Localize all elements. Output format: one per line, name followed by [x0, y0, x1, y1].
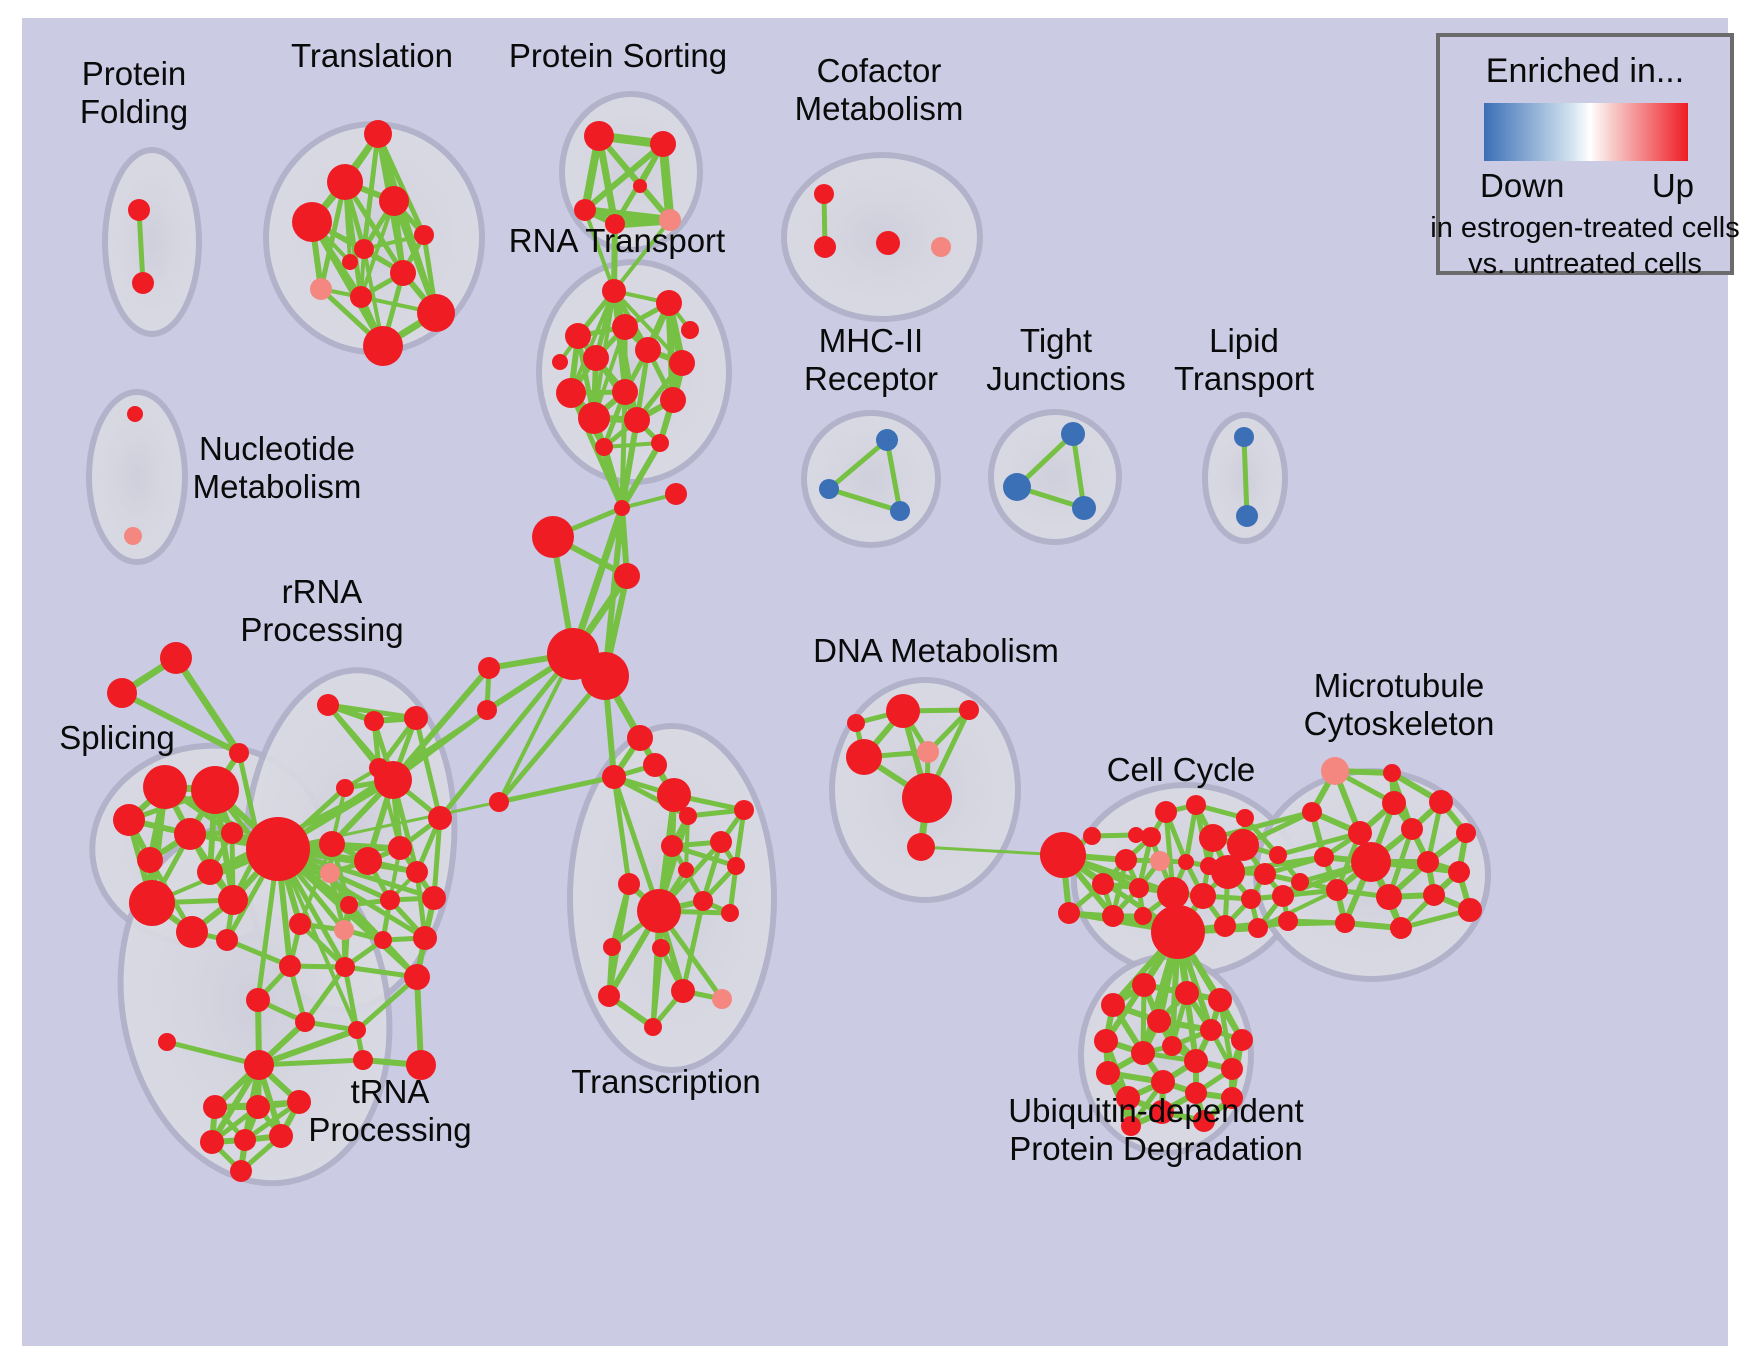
network-node[interactable]	[1236, 809, 1254, 827]
network-node[interactable]	[1151, 1070, 1175, 1094]
network-node[interactable]	[1458, 898, 1482, 922]
network-node[interactable]	[327, 164, 363, 200]
network-node[interactable]	[1200, 1019, 1222, 1041]
network-node[interactable]	[1221, 1058, 1243, 1080]
network-node[interactable]	[637, 889, 681, 933]
legend: Enriched in... Down Up in estrogen-treat…	[1430, 35, 1740, 280]
network-node[interactable]	[174, 818, 206, 850]
network-node[interactable]	[203, 1095, 227, 1119]
network-node[interactable]	[814, 184, 834, 204]
network-node[interactable]	[1094, 1029, 1118, 1053]
network-node[interactable]	[221, 822, 243, 844]
network-node[interactable]	[354, 239, 374, 259]
network-node[interactable]	[1132, 973, 1156, 997]
network-node[interactable]	[1155, 801, 1177, 823]
network-edge	[622, 392, 625, 508]
network-node[interactable]	[374, 761, 412, 799]
network-node[interactable]	[414, 225, 434, 245]
network-node[interactable]	[197, 859, 223, 885]
network-node[interactable]	[200, 1130, 224, 1154]
network-node[interactable]	[660, 387, 686, 413]
network-node[interactable]	[876, 231, 900, 255]
network-node[interactable]	[656, 290, 682, 316]
network-node[interactable]	[693, 891, 713, 911]
network-node[interactable]	[234, 1129, 256, 1151]
network-node[interactable]	[1096, 1061, 1120, 1085]
network-node[interactable]	[1211, 855, 1245, 889]
network-node[interactable]	[289, 913, 311, 935]
network-node[interactable]	[218, 885, 248, 915]
network-node[interactable]	[128, 199, 150, 221]
network-node[interactable]	[574, 199, 596, 221]
network-node[interactable]	[127, 406, 143, 422]
cluster-label-translation: Translation	[291, 37, 453, 74]
network-node[interactable]	[354, 847, 382, 875]
network-node[interactable]	[1083, 827, 1101, 845]
network-node[interactable]	[1236, 505, 1258, 527]
network-node[interactable]	[317, 694, 339, 716]
network-node[interactable]	[1102, 905, 1124, 927]
network-node[interactable]	[681, 321, 699, 339]
network-node[interactable]	[603, 938, 621, 956]
network-node[interactable]	[1058, 902, 1080, 924]
network-node[interactable]	[295, 1012, 315, 1032]
network-node[interactable]	[1072, 496, 1096, 520]
network-node[interactable]	[635, 337, 661, 363]
network-node[interactable]	[1115, 849, 1137, 871]
network-node[interactable]	[907, 833, 935, 861]
network-node[interactable]	[269, 1124, 293, 1148]
network-node[interactable]	[364, 711, 384, 731]
network-node[interactable]	[1326, 879, 1348, 901]
network-node[interactable]	[1147, 1009, 1171, 1033]
network-node[interactable]	[1162, 1036, 1182, 1056]
cluster-label-mhc-ii-receptor: MHC-IIReceptor	[804, 322, 938, 397]
network-node[interactable]	[374, 931, 392, 949]
cluster-label-splicing: Splicing	[59, 719, 175, 756]
network-node[interactable]	[532, 516, 574, 558]
network-node[interactable]	[612, 379, 638, 405]
network-node[interactable]	[348, 1021, 366, 1039]
network-node[interactable]	[1141, 827, 1161, 847]
network-node[interactable]	[1423, 884, 1445, 906]
network-node[interactable]	[1456, 823, 1476, 843]
network-node[interactable]	[671, 979, 695, 1003]
network-node[interactable]	[113, 804, 145, 836]
network-edge	[1244, 437, 1247, 516]
network-node[interactable]	[422, 886, 446, 910]
network-node[interactable]	[1129, 878, 1149, 898]
network-node[interactable]	[624, 407, 650, 433]
network-node[interactable]	[886, 694, 920, 728]
network-node[interactable]	[1157, 877, 1189, 909]
legend-caption-line-1: in estrogen-treated cells	[1430, 212, 1740, 244]
network-node[interactable]	[1178, 854, 1194, 870]
network-node[interactable]	[1003, 473, 1031, 501]
network-node[interactable]	[340, 896, 358, 914]
network-node[interactable]	[176, 916, 208, 948]
network-node[interactable]	[847, 714, 865, 732]
network-node[interactable]	[1231, 1029, 1253, 1051]
network-node[interactable]	[129, 880, 175, 926]
network-node[interactable]	[581, 652, 629, 700]
network-node[interactable]	[477, 700, 497, 720]
cluster-hull	[804, 413, 938, 545]
cluster-label-nucleotide-metabolism: NucleotideMetabolism	[193, 430, 362, 505]
network-node[interactable]	[1383, 764, 1401, 782]
network-node[interactable]	[627, 725, 653, 751]
network-node[interactable]	[406, 861, 428, 883]
network-node[interactable]	[1200, 857, 1218, 875]
network-node[interactable]	[216, 929, 238, 951]
network-node[interactable]	[669, 350, 695, 376]
network-node[interactable]	[379, 186, 409, 216]
network-node[interactable]	[1131, 1041, 1155, 1065]
network-node[interactable]	[931, 237, 951, 257]
network-node[interactable]	[124, 527, 142, 545]
network-node[interactable]	[404, 706, 428, 730]
cluster-label-rna-transport: RNA Transport	[509, 222, 725, 259]
network-node[interactable]	[478, 657, 500, 679]
network-node[interactable]	[583, 345, 609, 371]
network-node[interactable]	[191, 766, 239, 814]
network-node[interactable]	[334, 920, 354, 940]
network-node[interactable]	[1175, 981, 1199, 1005]
network-node[interactable]	[1351, 842, 1391, 882]
network-node[interactable]	[819, 479, 839, 499]
network-node[interactable]	[1382, 791, 1406, 815]
legend-high-label: Up	[1652, 167, 1694, 204]
network-node[interactable]	[1335, 913, 1355, 933]
network-node[interactable]	[710, 831, 732, 853]
network-node[interactable]	[143, 765, 187, 809]
network-node[interactable]	[1151, 905, 1205, 959]
legend-caption-line-2: vs. untreated cells	[1468, 248, 1702, 280]
network-node[interactable]	[1429, 790, 1453, 814]
network-node[interactable]	[618, 873, 640, 895]
network-node[interactable]	[489, 792, 509, 812]
network-node[interactable]	[319, 831, 345, 857]
network-node[interactable]	[1199, 824, 1227, 852]
network-node[interactable]	[320, 863, 340, 883]
network-node[interactable]	[1061, 422, 1085, 446]
legend-low-label: Down	[1480, 167, 1564, 204]
network-node[interactable]	[1254, 863, 1276, 885]
network-node[interactable]	[612, 314, 638, 340]
network-node[interactable]	[1208, 988, 1232, 1012]
network-node[interactable]	[1190, 883, 1216, 909]
network-node[interactable]	[1040, 832, 1086, 878]
network-node[interactable]	[1134, 907, 1152, 925]
network-node[interactable]	[598, 985, 620, 1007]
network-node[interactable]	[350, 286, 372, 308]
cluster-label-cell-cycle: Cell Cycle	[1107, 751, 1256, 788]
network-node[interactable]	[651, 434, 669, 452]
network-node[interactable]	[1302, 802, 1322, 822]
network-node[interactable]	[335, 957, 355, 977]
network-node[interactable]	[661, 835, 683, 857]
network-node[interactable]	[229, 743, 249, 763]
network-node[interactable]	[246, 1095, 270, 1119]
network-node[interactable]	[1448, 861, 1470, 883]
network-node[interactable]	[614, 500, 630, 516]
network-node[interactable]	[417, 294, 455, 332]
cluster-protein-folding	[105, 150, 199, 334]
network-node[interactable]	[814, 236, 836, 258]
network-node[interactable]	[721, 904, 739, 922]
network-node[interactable]	[876, 429, 898, 451]
network-node[interactable]	[1417, 851, 1439, 873]
network-node[interactable]	[1376, 884, 1402, 910]
network-node[interactable]	[230, 1160, 252, 1182]
network-node[interactable]	[353, 1050, 373, 1070]
network-node[interactable]	[633, 179, 647, 193]
network-node[interactable]	[644, 1018, 662, 1036]
network-node[interactable]	[657, 778, 691, 812]
network-node[interactable]	[1184, 1049, 1208, 1073]
network-node[interactable]	[388, 836, 412, 860]
network-node[interactable]	[107, 678, 137, 708]
network-node[interactable]	[413, 926, 437, 950]
cluster-hull	[105, 150, 199, 334]
network-node[interactable]	[679, 807, 697, 825]
network-node[interactable]	[846, 739, 882, 775]
network-node[interactable]	[246, 817, 310, 881]
network-node[interactable]	[1248, 918, 1268, 938]
network-node[interactable]	[1269, 846, 1287, 864]
cluster-label-protein-folding: ProteinFolding	[80, 55, 188, 130]
cluster-label-cofactor-metabolism: CofactorMetabolism	[795, 52, 964, 127]
network-edge	[669, 303, 673, 400]
cluster-label-ubiquitin-protein-degradation: Ubiquitin-dependentProtein Degradation	[1008, 1092, 1303, 1167]
network-node[interactable]	[404, 964, 430, 990]
network-node[interactable]	[428, 806, 452, 830]
network-node[interactable]	[643, 753, 667, 777]
network-node[interactable]	[1401, 818, 1423, 840]
network-node[interactable]	[602, 765, 626, 789]
network-node[interactable]	[652, 939, 670, 957]
network-node[interactable]	[132, 272, 154, 294]
network-node[interactable]	[902, 773, 952, 823]
legend-color-bar	[1484, 103, 1688, 161]
network-node[interactable]	[578, 402, 610, 434]
network-node[interactable]	[552, 354, 568, 370]
network-node[interactable]	[1321, 757, 1349, 785]
network-node[interactable]	[1214, 915, 1236, 937]
network-node[interactable]	[160, 642, 192, 674]
cluster-label-protein-sorting: Protein Sorting	[509, 37, 727, 74]
network-node[interactable]	[959, 700, 979, 720]
network-node[interactable]	[917, 741, 939, 763]
network-node[interactable]	[1186, 795, 1206, 815]
network-node[interactable]	[158, 1033, 176, 1051]
network-node[interactable]	[1278, 911, 1298, 931]
network-node[interactable]	[342, 254, 358, 270]
network-node[interactable]	[1150, 851, 1170, 871]
network-node[interactable]	[1241, 889, 1261, 909]
network-node[interactable]	[137, 847, 163, 873]
network-node[interactable]	[363, 326, 403, 366]
network-node[interactable]	[336, 779, 354, 797]
network-node[interactable]	[390, 260, 416, 286]
network-node[interactable]	[890, 501, 910, 521]
network-canvas: ProteinFoldingTranslationProtein Sorting…	[0, 0, 1750, 1360]
network-node[interactable]	[244, 1050, 274, 1080]
network-node[interactable]	[602, 279, 626, 303]
cluster-mhc-ii-receptor	[804, 413, 938, 545]
network-node[interactable]	[1272, 885, 1294, 907]
network-node[interactable]	[1348, 821, 1372, 845]
legend-title: Enriched in...	[1486, 52, 1684, 90]
network-node[interactable]	[727, 857, 745, 875]
cluster-label-microtubule-cytoskeleton: MicrotubuleCytoskeleton	[1304, 667, 1495, 742]
network-node[interactable]	[279, 955, 301, 977]
network-node[interactable]	[310, 278, 332, 300]
network-node[interactable]	[292, 202, 332, 242]
cluster-label-dna-metabolism: DNA Metabolism	[813, 632, 1059, 669]
network-node[interactable]	[678, 862, 694, 878]
network-node[interactable]	[734, 800, 754, 820]
network-node[interactable]	[364, 120, 392, 148]
network-node[interactable]	[712, 989, 732, 1009]
network-node[interactable]	[650, 131, 676, 157]
network-node[interactable]	[556, 378, 586, 408]
network-node[interactable]	[1101, 993, 1125, 1017]
network-node[interactable]	[665, 483, 687, 505]
network-node[interactable]	[614, 563, 640, 589]
network-node[interactable]	[1390, 917, 1412, 939]
cluster-label-transcription: Transcription	[571, 1063, 761, 1100]
network-node[interactable]	[1092, 873, 1114, 895]
network-node[interactable]	[380, 890, 400, 910]
network-node[interactable]	[565, 323, 591, 349]
network-node[interactable]	[584, 121, 614, 151]
network-node[interactable]	[1291, 873, 1309, 891]
network-node[interactable]	[1234, 427, 1254, 447]
network-node[interactable]	[595, 438, 613, 456]
network-node[interactable]	[1128, 827, 1144, 843]
enrichment-network-figure: ProteinFoldingTranslationProtein Sorting…	[0, 0, 1750, 1360]
network-node[interactable]	[1314, 847, 1334, 867]
network-node[interactable]	[246, 988, 270, 1012]
